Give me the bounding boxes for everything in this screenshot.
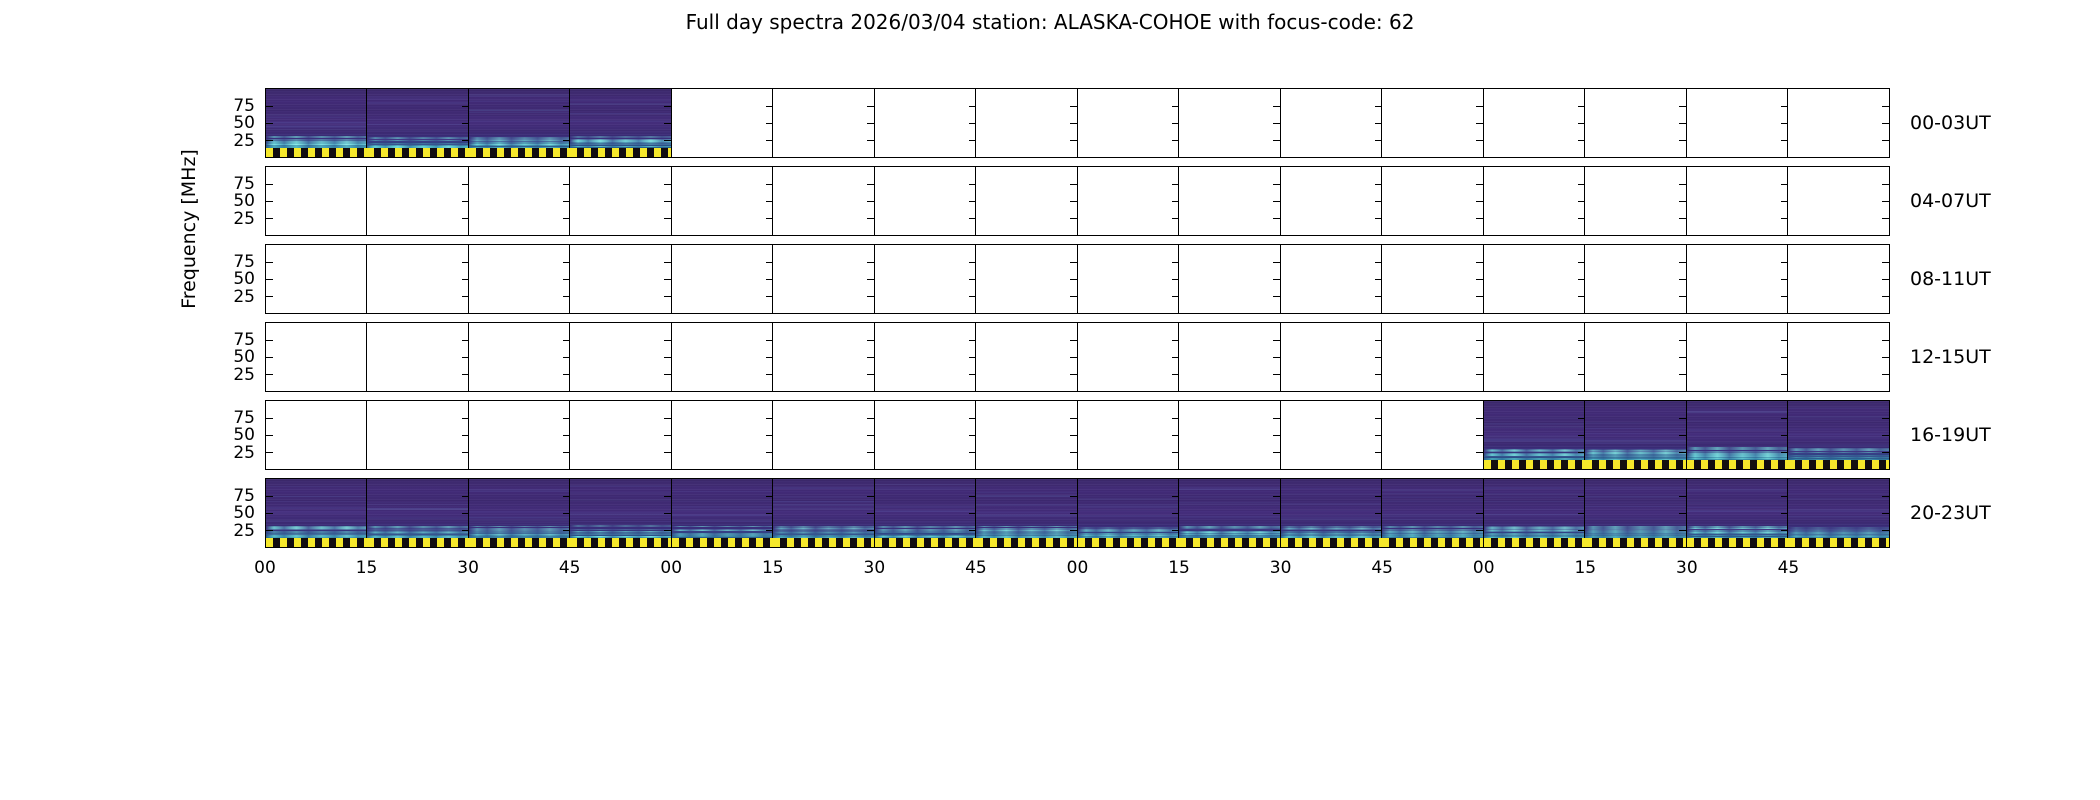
- spectrogram-faint-band: [1281, 515, 1382, 517]
- panel-cell: [772, 400, 875, 470]
- spectrogram-emission-streak: [469, 144, 570, 146]
- spectrogram-cell: [266, 479, 367, 547]
- spectrogram-emission-streak: [1281, 528, 1382, 529]
- x-tick-label: 30: [457, 558, 479, 578]
- y-tick-label: 25: [213, 443, 255, 463]
- time-marker-band: [570, 538, 671, 547]
- spectrogram-faint-band: [1281, 493, 1382, 495]
- panel-cell: [1686, 166, 1789, 236]
- spectrogram-faint-band: [570, 131, 671, 132]
- spectrogram-faint-band: [367, 102, 468, 104]
- spectrogram-faint-band: [976, 504, 1077, 506]
- spectrogram-faint-band: [1179, 516, 1280, 518]
- x-tick-label: 00: [1067, 558, 1089, 578]
- y-axis-label: Frequency [MHz]: [178, 114, 200, 344]
- spectrogram-cell: [367, 89, 468, 157]
- spectrogram-emission-streak: [570, 146, 671, 147]
- panel-cell: [366, 244, 469, 314]
- panel-cell: [366, 166, 469, 236]
- spectrogram-cell: [469, 479, 570, 547]
- spectrogram-faint-band: [469, 94, 570, 97]
- time-marker-band: [773, 538, 874, 547]
- spectrogram-faint-band: [1585, 487, 1686, 489]
- panel-cell: [1077, 322, 1180, 392]
- panel-cell: [1686, 322, 1789, 392]
- panel-cell: [569, 400, 672, 470]
- spectrogram-faint-band: [1585, 428, 1686, 429]
- y-axis-tick: [266, 279, 273, 280]
- spectrogram-faint-band: [1484, 439, 1585, 441]
- y-axis-tick: [266, 201, 273, 202]
- panel-cell: [1584, 478, 1687, 548]
- spectrogram-cell: [1484, 479, 1585, 547]
- time-marker-band: [1078, 538, 1179, 547]
- panel-cell: [1686, 400, 1789, 470]
- panel-cell: [1178, 322, 1281, 392]
- panel-cell: [265, 244, 368, 314]
- y-axis-tick: [1882, 452, 1889, 453]
- spectrogram-faint-band: [1484, 417, 1585, 419]
- spectrogram-faint-band: [1585, 497, 1686, 498]
- spectrogram-faint-band: [1585, 440, 1686, 442]
- spectrogram-faint-band: [1382, 514, 1483, 516]
- time-marker-band: [1585, 538, 1686, 547]
- y-axis-tick: [1882, 340, 1889, 341]
- spectrogram-faint-band: [266, 507, 367, 509]
- spectrogram-emission-streak: [570, 136, 671, 139]
- row-cell-grid: [265, 322, 1890, 392]
- spectrogram-faint-band: [570, 485, 671, 487]
- row-label: 20-23UT: [1910, 502, 1991, 524]
- x-tick-label: 15: [1574, 558, 1596, 578]
- y-axis-tick: [1882, 374, 1889, 375]
- spectrogram-faint-band: [1788, 407, 1889, 409]
- spectrogram-faint-band: [1788, 436, 1889, 438]
- spectrogram-faint-band: [1687, 507, 1788, 509]
- spectrogram-cell: [367, 479, 468, 547]
- row-label: 08-11UT: [1910, 268, 1991, 290]
- spectrogram-cell: [570, 479, 671, 547]
- spectrogram-faint-band: [1585, 433, 1686, 434]
- y-axis-tick: [1882, 513, 1889, 514]
- spectrogram-faint-band: [1585, 422, 1686, 424]
- y-axis-tick: [266, 374, 273, 375]
- spectrogram-emission-streak: [1788, 457, 1889, 458]
- spectrogram-row: [265, 166, 1890, 236]
- time-marker-band: [469, 538, 570, 547]
- spectrogram-cell: [1382, 479, 1483, 547]
- spectrogram-faint-band: [469, 511, 570, 513]
- spectrogram-faint-band: [266, 511, 367, 513]
- x-tick-label: 00: [660, 558, 682, 578]
- spectrogram-faint-band: [773, 496, 874, 498]
- x-tick-label: 15: [1168, 558, 1190, 578]
- spectrogram-faint-band: [469, 112, 570, 114]
- spectrogram-faint-band: [367, 517, 468, 518]
- panel-cell: [1381, 478, 1484, 548]
- y-axis-tick: [266, 340, 273, 341]
- spectrogram-faint-band: [1484, 493, 1585, 495]
- spectrogram-faint-band: [266, 122, 367, 123]
- panel-cell: [874, 244, 977, 314]
- spectrogram-faint-band: [266, 126, 367, 128]
- panel-cell: [1584, 88, 1687, 158]
- y-axis-tick: [266, 357, 273, 358]
- spectrogram-faint-band: [1078, 520, 1179, 521]
- spectrogram-row: [265, 478, 1890, 548]
- spectrogram-faint-band: [367, 502, 468, 503]
- panel-cell: [671, 400, 774, 470]
- spectrogram-faint-band: [266, 486, 367, 487]
- spectrogram-emission-streak: [266, 136, 367, 138]
- panel-cell: [265, 322, 368, 392]
- spectrogram-faint-band: [1281, 510, 1382, 512]
- time-marker-band: [1484, 460, 1585, 469]
- spectrogram-faint-band: [1281, 503, 1382, 505]
- spectrogram-faint-band: [773, 487, 874, 489]
- spectrogram-faint-band: [875, 511, 976, 512]
- spectrogram-faint-band: [672, 509, 773, 511]
- spectrogram-faint-band: [367, 130, 468, 132]
- spectrogram-emission-streak: [1179, 528, 1280, 529]
- spectrogram-faint-band: [1788, 416, 1889, 418]
- row-cell-grid: [265, 166, 1890, 236]
- spectrogram-faint-band: [570, 100, 671, 101]
- panel-cell: [671, 166, 774, 236]
- spectrogram-faint-band: [1687, 429, 1788, 431]
- spectrogram-faint-band: [1179, 487, 1280, 489]
- spectrogram-emission-streak: [1788, 455, 1889, 456]
- spectrogram-emission-streak: [1078, 530, 1179, 531]
- spectrogram-cell: [1585, 401, 1686, 469]
- spectrogram-faint-band: [1687, 411, 1788, 412]
- spectrogram-faint-band: [1484, 438, 1585, 440]
- row-label: 04-07UT: [1910, 190, 1991, 212]
- spectrogram-faint-band: [469, 522, 570, 523]
- panel-cell: [1280, 166, 1383, 236]
- spectrogram-faint-band: [367, 508, 468, 510]
- row-cell-grid: [265, 88, 1890, 158]
- panel-cell: [366, 88, 469, 158]
- spectrogram-faint-band: [1484, 487, 1585, 489]
- spectrogram-cell: [1078, 479, 1179, 547]
- x-tick-label: 30: [1676, 558, 1698, 578]
- x-tick-label: 45: [1371, 558, 1393, 578]
- panel-cell: [1787, 166, 1890, 236]
- row-cell-grid: [265, 244, 1890, 314]
- panel-cell: [1686, 88, 1789, 158]
- spectrogram-faint-band: [1788, 493, 1889, 494]
- spectrogram-faint-band: [976, 492, 1077, 493]
- panel-cell: [265, 88, 368, 158]
- panel-cell: [1381, 166, 1484, 236]
- panel-cell: [1077, 166, 1180, 236]
- y-axis-tick: [266, 140, 273, 141]
- spectrogram-emission-streak: [1484, 454, 1585, 455]
- panel-cell: [1584, 400, 1687, 470]
- spectrogram-faint-band: [672, 515, 773, 516]
- panel-cell: [1483, 166, 1586, 236]
- y-axis-tick: [1882, 218, 1889, 219]
- time-marker-band: [672, 538, 773, 547]
- y-tick-label: 25: [213, 521, 255, 541]
- panel-cell: [874, 88, 977, 158]
- spectrogram-faint-band: [672, 499, 773, 501]
- y-axis-tick: [266, 262, 273, 263]
- y-axis-tick: [1882, 279, 1889, 280]
- panel-cell: [874, 322, 977, 392]
- panel-cell: [671, 244, 774, 314]
- spectrogram-cell: [1179, 479, 1280, 547]
- panel-cell: [1686, 478, 1789, 548]
- spectrogram-faint-band: [1281, 520, 1382, 521]
- spectrogram-faint-band: [1382, 500, 1483, 501]
- panel-cell: [468, 88, 571, 158]
- time-marker-band: [1687, 538, 1788, 547]
- spectrogram-faint-band: [1788, 516, 1889, 518]
- y-axis-tick: [266, 496, 273, 497]
- spectrogram-faint-band: [1484, 426, 1585, 428]
- spectrogram-emission-streak: [570, 140, 671, 142]
- x-tick-label: 45: [559, 558, 581, 578]
- y-axis-tick: [266, 530, 273, 531]
- spectrogram-faint-band: [672, 520, 773, 521]
- time-marker-band: [367, 148, 468, 157]
- spectrogram-row: [265, 322, 1890, 392]
- spectrogram-faint-band: [875, 505, 976, 507]
- spectrogram-row: [265, 400, 1890, 470]
- x-tick-label: 30: [864, 558, 886, 578]
- spectrogram-cell: [1585, 479, 1686, 547]
- spectrogram-faint-band: [570, 103, 671, 105]
- spectrogram-faint-band: [1788, 444, 1889, 446]
- x-tick-label: 15: [356, 558, 378, 578]
- panel-cell: [366, 400, 469, 470]
- panel-cell: [1381, 322, 1484, 392]
- spectrogram-faint-band: [1484, 514, 1585, 515]
- x-tick-label: 45: [1778, 558, 1800, 578]
- spectrogram-faint-band: [367, 504, 468, 505]
- spectrogram-emission-streak: [570, 525, 671, 527]
- spectrogram-faint-band: [672, 491, 773, 492]
- spectrogram-emission-streak: [367, 140, 468, 141]
- spectrogram-faint-band: [570, 120, 671, 122]
- spectrogram-faint-band: [1382, 497, 1483, 498]
- spectrogram-faint-band: [1788, 498, 1889, 500]
- panel-cell: [1787, 478, 1890, 548]
- panel-cell: [1077, 400, 1180, 470]
- spectrogram-faint-band: [1382, 493, 1483, 494]
- spectrogram-faint-band: [1585, 442, 1686, 444]
- spectrogram-cell: [1788, 401, 1889, 469]
- spectrogram-cell: [469, 89, 570, 157]
- spectrogram-faint-band: [773, 501, 874, 503]
- panel-cell: [1787, 244, 1890, 314]
- row-label: 00-03UT: [1910, 112, 1991, 134]
- y-axis-tick: [1882, 296, 1889, 297]
- panel-cell: [772, 88, 875, 158]
- panel-cell: [1483, 400, 1586, 470]
- panel-cell: [671, 88, 774, 158]
- panel-cell: [1483, 244, 1586, 314]
- spectrogram-faint-band: [266, 496, 367, 497]
- spectrogram-faint-band: [1687, 409, 1788, 411]
- panel-cell: [366, 478, 469, 548]
- spectrogram-faint-band: [875, 484, 976, 485]
- spectrogram-cell: [1281, 479, 1382, 547]
- x-tick-label: 45: [965, 558, 987, 578]
- panel-cell: [1077, 88, 1180, 158]
- panel-cell: [975, 88, 1078, 158]
- y-axis-tick: [266, 106, 273, 107]
- y-axis-tick: [266, 296, 273, 297]
- panel-cell: [1178, 244, 1281, 314]
- time-marker-band: [1687, 460, 1788, 469]
- time-marker-band: [1179, 538, 1280, 547]
- panel-cell: [1787, 400, 1890, 470]
- panel-cell: [1381, 400, 1484, 470]
- spectrogram-faint-band: [469, 517, 570, 519]
- panel-cell: [468, 166, 571, 236]
- y-axis-tick: [1882, 106, 1889, 107]
- spectrogram-faint-band: [469, 100, 570, 102]
- spectrogram-faint-band: [266, 114, 367, 115]
- time-marker-band: [469, 148, 570, 157]
- spectrogram-faint-band: [1687, 500, 1788, 501]
- y-axis-tick: [1882, 357, 1889, 358]
- panel-cell: [1787, 88, 1890, 158]
- time-marker-band: [875, 538, 976, 547]
- spectrogram-faint-band: [976, 512, 1077, 513]
- panel-cell: [772, 478, 875, 548]
- y-axis-tick: [1882, 530, 1889, 531]
- spectrogram-faint-band: [1382, 519, 1483, 520]
- spectrogram-faint-band: [1585, 506, 1686, 507]
- panel-cell: [1077, 478, 1180, 548]
- spectrogram-faint-band: [1484, 509, 1585, 510]
- panel-cell: [1381, 88, 1484, 158]
- y-axis-tick: [1882, 140, 1889, 141]
- spectrogram-faint-band: [367, 119, 468, 120]
- y-axis-tick: [1882, 262, 1889, 263]
- panel-cell: [1178, 88, 1281, 158]
- panel-cell: [1483, 478, 1586, 548]
- spectrogram-emission-streak: [976, 526, 1077, 528]
- spectrogram-faint-band: [1585, 518, 1686, 519]
- y-axis-tick: [266, 218, 273, 219]
- time-marker-band: [570, 148, 671, 157]
- spectrogram-faint-band: [1281, 488, 1382, 489]
- y-tick-label: 25: [213, 131, 255, 151]
- panel-cell: [1483, 88, 1586, 158]
- panel-cell: [265, 400, 368, 470]
- panel-cell: [1280, 400, 1383, 470]
- time-marker-band: [1788, 538, 1889, 547]
- spectrogram-faint-band: [266, 129, 367, 130]
- panel-cell: [569, 478, 672, 548]
- spectrogram-faint-band: [266, 117, 367, 118]
- y-axis-tick: [1882, 184, 1889, 185]
- panel-cell: [975, 400, 1078, 470]
- y-axis-tick: [1882, 123, 1889, 124]
- spectrogram-emission-streak: [672, 530, 773, 531]
- spectrogram-emission-streak: [266, 527, 367, 530]
- spectrogram-faint-band: [1687, 420, 1788, 421]
- panel-cell: [1686, 244, 1789, 314]
- time-marker-band: [1281, 538, 1382, 547]
- panel-cell: [1483, 322, 1586, 392]
- spectrogram-cell: [672, 479, 773, 547]
- spectrogram-faint-band: [1179, 496, 1280, 498]
- spectrogram-faint-band: [1687, 502, 1788, 504]
- spectrogram-emission-streak: [875, 532, 976, 533]
- time-marker-band: [266, 148, 367, 157]
- spectrogram-faint-band: [1078, 515, 1179, 517]
- x-tick-label: 30: [1270, 558, 1292, 578]
- panel-cell: [569, 166, 672, 236]
- time-marker-band: [1382, 538, 1483, 547]
- spectrogram-row: [265, 244, 1890, 314]
- panel-cell: [874, 400, 977, 470]
- y-axis-tick: [266, 452, 273, 453]
- panel-cell: [468, 244, 571, 314]
- spectrogram-emission-streak: [672, 526, 773, 527]
- spectrogram-cell: [570, 89, 671, 157]
- spectrogram-faint-band: [1078, 498, 1179, 500]
- y-axis-tick: [266, 184, 273, 185]
- page-title: Full day spectra 2026/03/04 station: ALA…: [0, 10, 2100, 34]
- spectrogram-emission-streak: [1687, 532, 1788, 534]
- panel-cell: [874, 478, 977, 548]
- spectrogram-cell: [1687, 401, 1788, 469]
- panel-cell: [1787, 322, 1890, 392]
- panel-cell: [772, 322, 875, 392]
- spectrogram-cell: [875, 479, 976, 547]
- spectrogram-faint-band: [1484, 423, 1585, 425]
- panel-cell: [671, 478, 774, 548]
- spectrogram-faint-band: [570, 499, 671, 501]
- panel-cell: [1280, 478, 1383, 548]
- spectrogram-faint-band: [1788, 511, 1889, 512]
- panel-cell: [468, 400, 571, 470]
- spectrogram-emission-streak: [1585, 530, 1686, 533]
- panel-cell: [468, 478, 571, 548]
- panel-cell: [265, 478, 368, 548]
- y-tick-label: 25: [213, 209, 255, 229]
- panel-cell: [1381, 244, 1484, 314]
- panel-cell: [1178, 166, 1281, 236]
- spectrogram-faint-band: [773, 507, 874, 509]
- time-marker-band: [1788, 460, 1889, 469]
- spectrogram-faint-band: [367, 124, 468, 125]
- spectrogram-faint-band: [1585, 502, 1686, 503]
- x-tick-label: 00: [254, 558, 276, 578]
- spectrogram-faint-band: [1179, 504, 1280, 505]
- row-label: 16-19UT: [1910, 424, 1991, 446]
- y-axis-tick: [266, 123, 273, 124]
- spectrogram-faint-band: [266, 501, 367, 502]
- panel-cell: [569, 322, 672, 392]
- spectrogram-faint-band: [1484, 501, 1585, 502]
- spectrogram-faint-band: [266, 520, 367, 522]
- panel-cell: [772, 244, 875, 314]
- spectrogram-faint-band: [672, 506, 773, 508]
- y-axis-tick: [1882, 418, 1889, 419]
- spectrogram-emission-streak: [1484, 450, 1585, 451]
- spectrogram-faint-band: [1484, 497, 1585, 498]
- spectrogram-cell: [976, 479, 1077, 547]
- spectrogram-emission-streak: [1788, 452, 1889, 453]
